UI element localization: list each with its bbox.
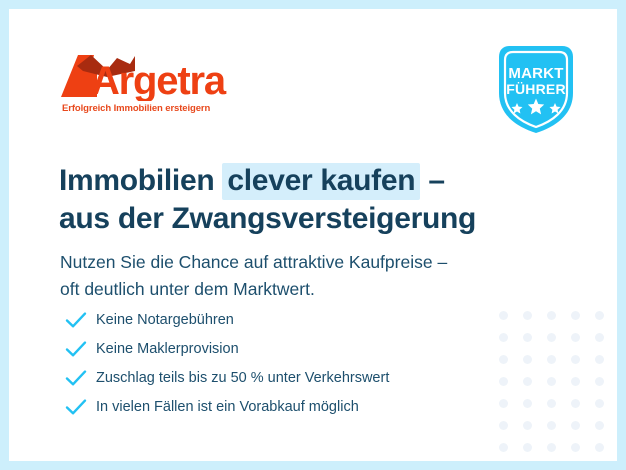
shield-badge-icon: MARKT FÜHRER bbox=[493, 41, 579, 137]
headline-highlight-text: clever kaufen bbox=[222, 163, 420, 200]
grid-dot bbox=[571, 311, 580, 320]
grid-dot bbox=[595, 311, 604, 320]
grid-dot bbox=[595, 443, 604, 452]
argetra-logo[interactable]: Argetra Erfolgreich Immobilien ersteiger… bbox=[61, 53, 261, 101]
headline-before-text: Immobilien bbox=[59, 164, 222, 197]
subheading-line-2: oft deutlich unter dem Marktwert. bbox=[60, 276, 447, 303]
grid-dot bbox=[547, 443, 556, 452]
markt-fuehrer-badge: MARKT FÜHRER bbox=[493, 41, 579, 137]
argetra-a-roof-icon: Argetra bbox=[61, 53, 261, 101]
list-item-label: Zuschlag teils bis zu 50 % unter Verkehr… bbox=[96, 370, 389, 386]
list-item: In vielen Fällen ist ein Vorabkauf mögli… bbox=[65, 392, 389, 421]
grid-dot bbox=[523, 377, 532, 386]
check-icon bbox=[65, 340, 87, 358]
grid-dot bbox=[571, 355, 580, 364]
check-icon bbox=[65, 311, 87, 329]
logo-tagline: Erfolgreich Immobilien ersteigern bbox=[62, 103, 210, 114]
grid-dot bbox=[595, 399, 604, 408]
badge-line2-text: FÜHRER bbox=[506, 81, 566, 97]
list-item: Zuschlag teils bis zu 50 % unter Verkehr… bbox=[65, 363, 389, 392]
grid-dot bbox=[571, 399, 580, 408]
grid-dot bbox=[523, 311, 532, 320]
logo-mark-row: Argetra bbox=[61, 53, 261, 101]
grid-dot bbox=[523, 399, 532, 408]
grid-dot bbox=[547, 377, 556, 386]
grid-dot bbox=[547, 311, 556, 320]
grid-dot bbox=[499, 421, 508, 430]
grid-dot bbox=[499, 355, 508, 364]
decorative-dot-grid bbox=[491, 304, 611, 459]
grid-dot bbox=[547, 333, 556, 342]
grid-dot bbox=[499, 311, 508, 320]
svg-text:Argetra: Argetra bbox=[91, 59, 227, 101]
grid-dot bbox=[523, 443, 532, 452]
badge-line1-text: MARKT bbox=[508, 65, 563, 82]
grid-dot bbox=[547, 421, 556, 430]
check-icon bbox=[65, 369, 87, 387]
list-item: Keine Notargebühren bbox=[65, 305, 389, 334]
grid-dot bbox=[595, 355, 604, 364]
grid-dot bbox=[595, 377, 604, 386]
headline-line-2: aus der Zwangsversteigerung bbox=[59, 200, 476, 238]
list-item: Keine Maklerprovision bbox=[65, 334, 389, 363]
grid-dot bbox=[571, 421, 580, 430]
list-item-label: Keine Notargebühren bbox=[96, 312, 234, 328]
headline-after-text: – bbox=[420, 164, 444, 197]
grid-dot bbox=[499, 377, 508, 386]
grid-dot bbox=[523, 421, 532, 430]
grid-dot bbox=[595, 421, 604, 430]
poster-canvas: Argetra Erfolgreich Immobilien ersteiger… bbox=[9, 9, 617, 461]
grid-dot bbox=[571, 333, 580, 342]
list-item-label: Keine Maklerprovision bbox=[96, 341, 239, 357]
grid-dot bbox=[595, 333, 604, 342]
grid-dot bbox=[571, 377, 580, 386]
subheading-line-1: Nutzen Sie die Chance auf attraktive Kau… bbox=[60, 249, 447, 276]
benefits-list: Keine Notargebühren Keine Maklerprovisio… bbox=[65, 305, 389, 421]
subheading: Nutzen Sie die Chance auf attraktive Kau… bbox=[60, 249, 447, 303]
check-icon bbox=[65, 398, 87, 416]
grid-dot bbox=[523, 333, 532, 342]
grid-dot bbox=[547, 399, 556, 408]
page-title: Immobilien clever kaufen – aus der Zwang… bbox=[59, 162, 476, 238]
grid-dot bbox=[499, 399, 508, 408]
headline-line-1: Immobilien clever kaufen – bbox=[59, 162, 476, 200]
promo-poster: Argetra Erfolgreich Immobilien ersteiger… bbox=[0, 0, 626, 470]
grid-dot bbox=[547, 355, 556, 364]
grid-dot bbox=[523, 355, 532, 364]
grid-dot bbox=[499, 443, 508, 452]
list-item-label: In vielen Fällen ist ein Vorabkauf mögli… bbox=[96, 399, 359, 415]
grid-dot bbox=[571, 443, 580, 452]
grid-dot bbox=[499, 333, 508, 342]
